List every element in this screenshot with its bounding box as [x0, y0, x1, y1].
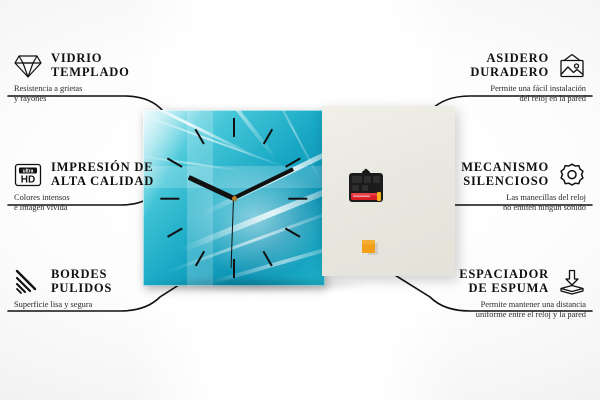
polished-edges-icon [14, 269, 42, 295]
feature-title: ESPACIADOR DE ESPUMA [459, 268, 549, 295]
clock-tick [285, 228, 301, 238]
feature-title: BORDES PULIDOS [51, 268, 112, 295]
feature-impresion-alta-calidad: ultra HD IMPRESIÓN DE ALTA CALIDAD Color… [14, 161, 169, 213]
clock-tick [263, 129, 273, 145]
feature-bordes-pulidos: BORDES PULIDOS Superficie lisa y segura [14, 268, 174, 310]
feature-desc: Las manecillas del reloj no emiten ningú… [426, 193, 586, 213]
picture-frame-hanger-icon [558, 53, 586, 79]
clock-tick [233, 118, 235, 137]
feature-mecanismo-silencioso: MECANISMO SILENCIOSO Las manecillas del … [426, 161, 586, 213]
diamond-icon [14, 53, 42, 79]
ultra-hd-icon: ultra HD [14, 162, 42, 188]
clock-second-hand [231, 198, 235, 268]
clock-front-face [143, 110, 325, 286]
ultra-hd-icon-bottom-text: HD [21, 174, 35, 185]
foam-spacer-arrow-icon [558, 269, 586, 295]
clock-tick [167, 228, 183, 238]
foam-spacer-pad [362, 240, 379, 256]
infographic-canvas: VIDRIO TEMPLADO Resistencia a grietas y … [0, 0, 600, 400]
feature-title: IMPRESIÓN DE ALTA CALIDAD [51, 161, 154, 188]
feature-vidrio-templado: VIDRIO TEMPLADO Resistencia a grietas y … [14, 52, 164, 104]
feature-desc: Permite una fácil instalación del reloj … [426, 84, 586, 104]
glass-reflection-horizontal [143, 166, 325, 188]
clock-tick [288, 198, 307, 200]
clock-center-pin [232, 196, 237, 201]
feature-title: VIDRIO TEMPLADO [51, 52, 130, 79]
quartz-mechanism [347, 168, 385, 204]
ultra-hd-icon-top-text: ultra [23, 168, 34, 174]
feature-espaciador-de-espuma: ESPACIADOR DE ESPUMA Permite mantener un… [416, 268, 586, 320]
feature-title: MECANISMO SILENCIOSO [461, 161, 549, 188]
feature-desc: Resistencia a grietas y rayones [14, 84, 164, 104]
feature-desc: Superficie lisa y segura [14, 300, 174, 310]
feature-title: ASIDERO DURADERO [470, 52, 549, 79]
clock-tick [233, 259, 235, 278]
feature-desc: Colores intensos e imagen vívida [14, 193, 169, 213]
feature-asidero-duradero: ASIDERO DURADERO Permite una fácil insta… [426, 52, 586, 104]
feature-desc: Permite mantener una distancia uniforme … [416, 300, 586, 320]
gear-icon [558, 162, 586, 188]
